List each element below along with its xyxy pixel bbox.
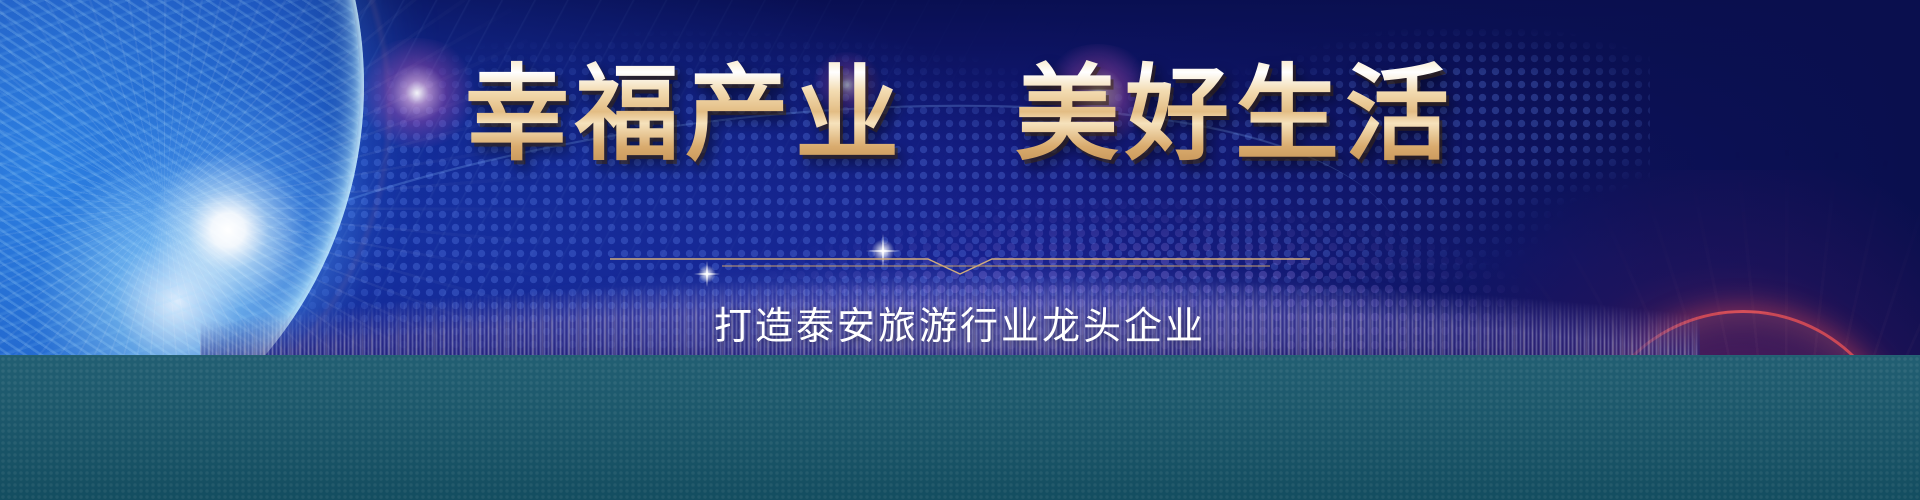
divider-svg — [610, 250, 1310, 278]
page-title: 幸福产业 美好生活 — [465, 56, 1455, 172]
subtitle-container: 打造泰安旅游行业龙头企业 — [0, 295, 1920, 350]
v-notch-divider-icon — [610, 250, 1310, 278]
page-subtitle: 打造泰安旅游行业龙头企业 — [714, 295, 1206, 350]
footer-bar — [0, 355, 1920, 500]
hero-banner: 幸福产业 美好生活 打造泰安旅游行业龙头企业 — [0, 0, 1920, 500]
headline-container: 幸福产业 美好生活 — [0, 56, 1920, 172]
